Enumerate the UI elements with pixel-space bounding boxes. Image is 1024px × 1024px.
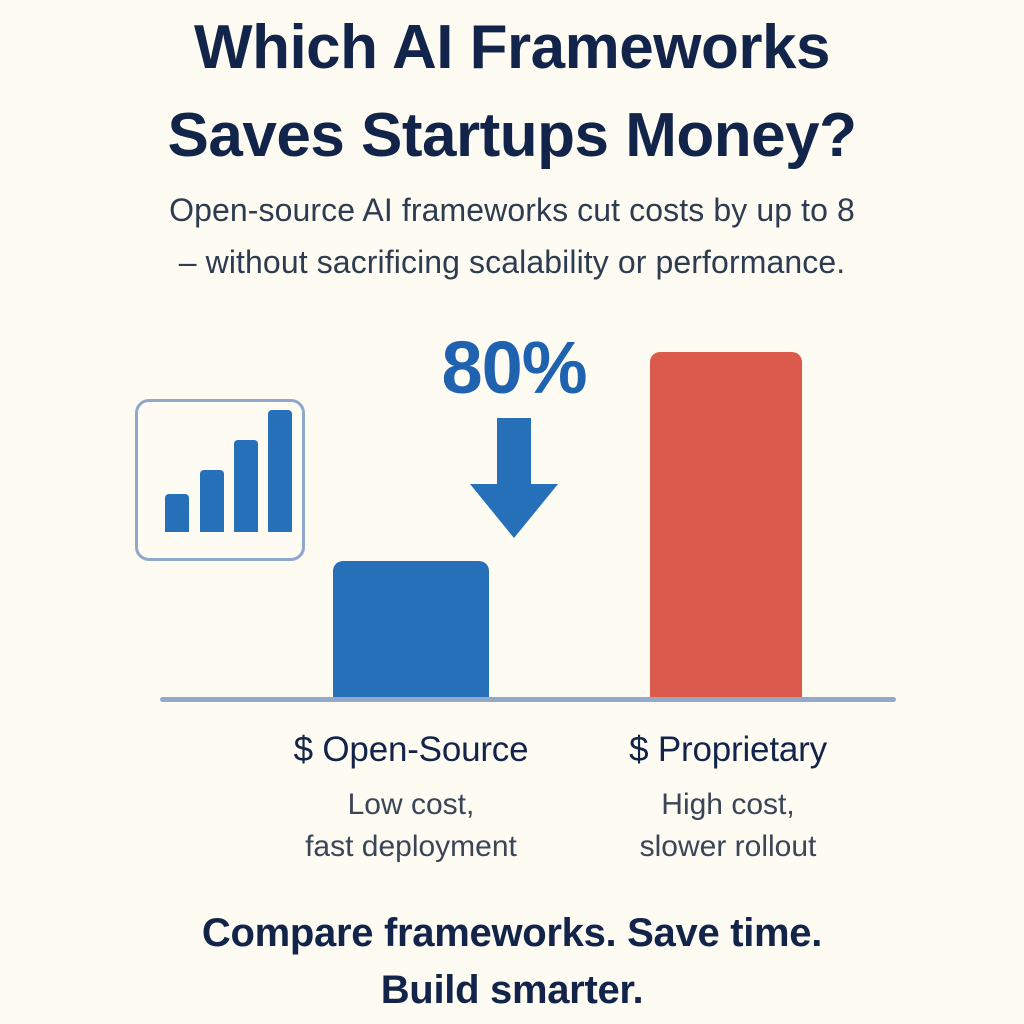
caption-proprietary-sub-line-2: slower rollout	[563, 826, 893, 869]
caption-open-source: $ Open-Source Low cost, fast deployment	[246, 728, 576, 869]
caption-open-source-sub-line-1: Low cost,	[246, 784, 576, 827]
mini-bar-4	[268, 410, 292, 532]
caption-open-source-sub: Low cost, fast deployment	[246, 784, 576, 869]
headline-line-1: Which AI Frameworks	[0, 4, 1024, 92]
subtitle-line-2: – without sacrificing scalability or per…	[0, 237, 1024, 289]
caption-open-source-title: $ Open-Source	[246, 728, 576, 772]
call-to-action: Compare frameworks. Save time. Build sma…	[0, 905, 1024, 1019]
chart-baseline	[160, 697, 896, 702]
arrow-down-icon	[470, 418, 558, 538]
infographic-poster: Which AI Frameworks Saves Startups Money…	[0, 0, 1024, 1024]
page-subtitle: Open-source AI frameworks cut costs by u…	[0, 185, 1024, 289]
caption-proprietary-sub: High cost, slower rollout	[563, 784, 893, 869]
mini-bar-2	[200, 470, 224, 532]
bar-proprietary	[650, 352, 802, 699]
mini-bar-1	[165, 494, 189, 532]
bar-chart-icon	[138, 402, 302, 558]
caption-proprietary: $ Proprietary High cost, slower rollout	[563, 728, 893, 869]
mini-bar-3	[234, 440, 258, 532]
cta-line-2: Build smarter.	[0, 962, 1024, 1019]
headline-line-2: Saves Startups Money?	[0, 92, 1024, 180]
subtitle-line-1: Open-source AI frameworks cut costs by u…	[0, 185, 1024, 237]
bar-chart-icon-card	[135, 399, 305, 561]
bar-open-source	[333, 561, 489, 699]
caption-proprietary-sub-line-1: High cost,	[563, 784, 893, 827]
reduction-percentage-label: 80%	[412, 331, 616, 405]
cta-line-1: Compare frameworks. Save time.	[0, 905, 1024, 962]
page-title: Which AI Frameworks Saves Startups Money…	[0, 4, 1024, 180]
caption-proprietary-title: $ Proprietary	[563, 728, 893, 772]
caption-open-source-sub-line-2: fast deployment	[246, 826, 576, 869]
